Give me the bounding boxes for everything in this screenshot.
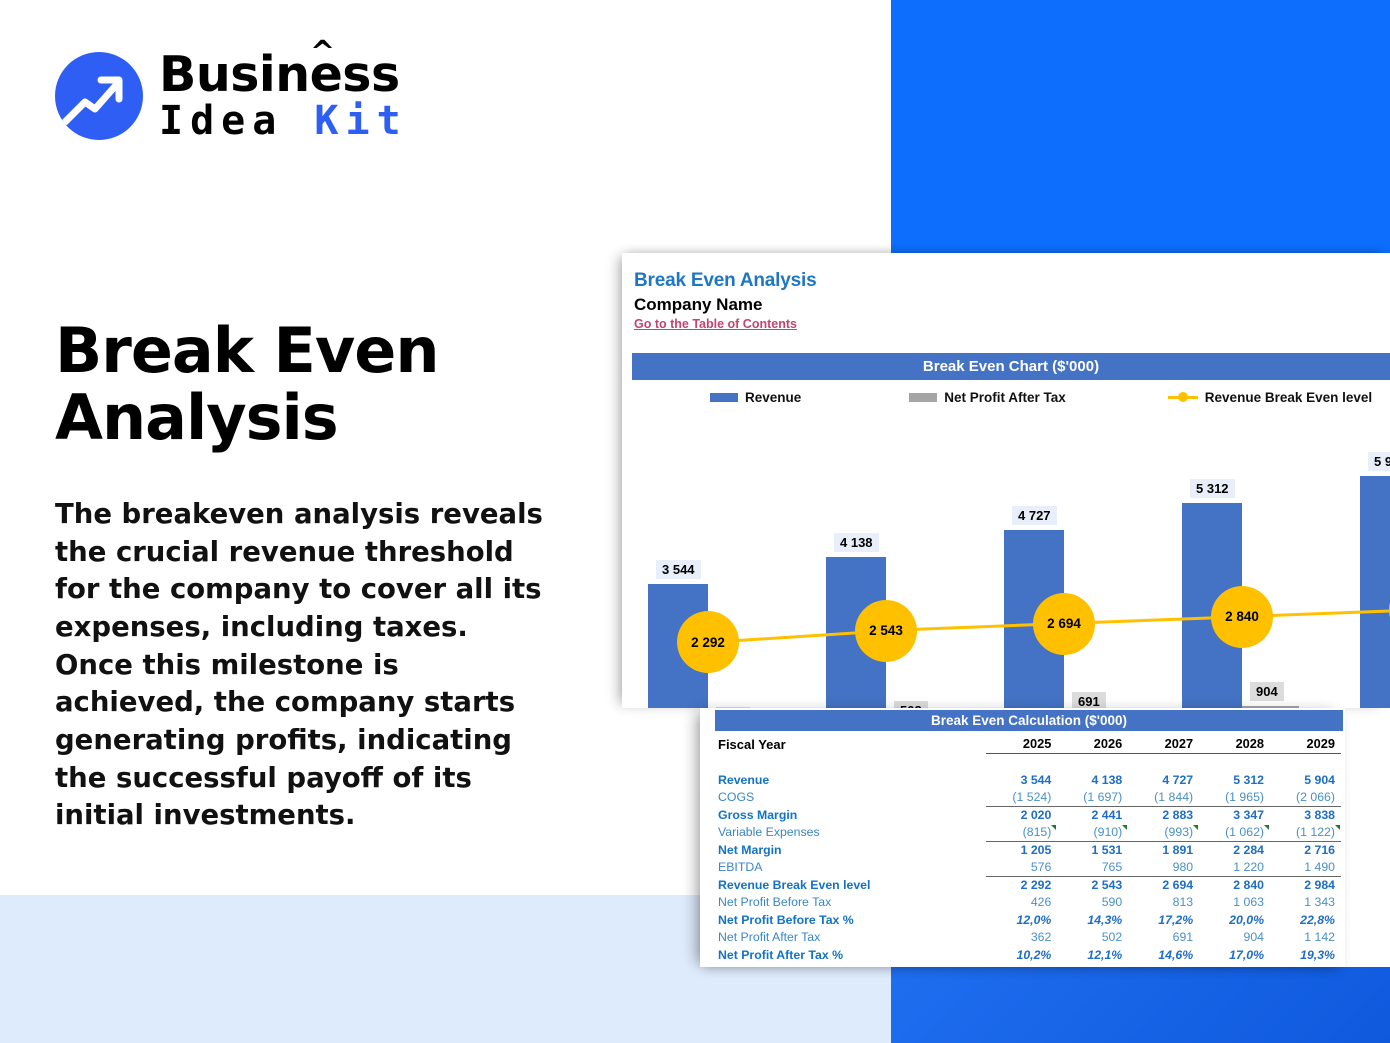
table-cell-2026: 2 543	[1057, 876, 1128, 894]
table-row: Revenue3 5444 1384 7275 3125 904	[715, 771, 1341, 789]
table-banner-title: Break Even Calculation ($'000)	[715, 710, 1343, 731]
table-cell-2025: 426	[986, 894, 1057, 912]
chart-card: Break Even Analysis Company Name Go to t…	[622, 253, 1390, 708]
table-cell-2026: (1 697)	[1057, 789, 1128, 807]
table-header-fiscal-year: Fiscal Year	[715, 736, 986, 754]
table-row: COGS(1 524)(1 697)(1 844)(1 965)(2 066)	[715, 789, 1341, 807]
chart-plot-area: 3 54436220254 13850220264 72769120275 31…	[622, 413, 1390, 708]
table-row: EBITDA5767659801 2201 490	[715, 859, 1341, 877]
data-label-revenue-2027: 4 727	[1012, 506, 1057, 525]
table-cell-2027: 14,6%	[1128, 946, 1199, 964]
table-cell-2028: 17,0%	[1199, 946, 1270, 964]
page-title: Break Even Analysis	[55, 318, 535, 452]
brand-caret-icon: ^	[310, 39, 335, 68]
break-even-marker-2028: 2 840	[1211, 586, 1273, 648]
table-cell-2027: 691	[1128, 929, 1199, 947]
table-cell-2029: 1 343	[1270, 894, 1341, 912]
table-cell-2029: (2 066)	[1270, 789, 1341, 807]
brand-name-line1: Business ^	[159, 52, 408, 99]
legend-label-break-even-level: Revenue Break Even level	[1205, 390, 1372, 405]
table-cell-2025: 12,0%	[986, 911, 1057, 929]
table-cell-label: Revenue Break Even level	[715, 876, 986, 894]
table-cell-2027: 813	[1128, 894, 1199, 912]
table-cell-2028: 1 063	[1199, 894, 1270, 912]
table-cell-2028: 20,0%	[1199, 911, 1270, 929]
break-even-marker-2026: 2 543	[855, 600, 917, 662]
table-row: Net Profit After Tax3625026919041 142	[715, 929, 1341, 947]
table-cell-2029: (1 122)	[1270, 824, 1341, 842]
table-header-2029: 2029	[1270, 736, 1341, 754]
table-cell-label: Net Profit Before Tax %	[715, 911, 986, 929]
table-cell-2029: 2 716	[1270, 841, 1341, 859]
break-even-marker-2027: 2 694	[1033, 593, 1095, 655]
break-even-marker-2025: 2 292	[677, 611, 739, 673]
table-spacer-row	[715, 754, 1341, 772]
table-row: Net Profit After Tax %10,2%12,1%14,6%17,…	[715, 946, 1341, 964]
table-cell-2029: 3 838	[1270, 806, 1341, 824]
data-label-revenue-2025: 3 544	[656, 560, 701, 579]
table-header-2025: 2025	[986, 736, 1057, 754]
table-cell-2026: (910)	[1057, 824, 1128, 842]
data-label-revenue-2029: 5 904	[1368, 452, 1390, 471]
table-cell-label: Variable Expenses	[715, 824, 986, 842]
table-row: Net Profit Before Tax %12,0%14,3%17,2%20…	[715, 911, 1341, 929]
page-description: The breakeven analysis reveals the cruci…	[55, 496, 545, 835]
brand-logo: Business ^ Idea Kit	[55, 52, 408, 140]
table-cell-2028: 2 284	[1199, 841, 1270, 859]
table-cell-2026: 14,3%	[1057, 911, 1128, 929]
table-cell-2028: 904	[1199, 929, 1270, 947]
table-cell-2029: 22,8%	[1270, 911, 1341, 929]
chart-banner-title: Break Even Chart ($'000)	[632, 353, 1390, 380]
table-cell-2025: 3 544	[986, 771, 1057, 789]
table-cell-2026: 502	[1057, 929, 1128, 947]
brand-idea-text: Idea	[159, 98, 314, 144]
data-label-net-profit-after-tax-2028: 904	[1250, 682, 1284, 701]
table-cell-2028: (1 062)	[1199, 824, 1270, 842]
table-cell-2028: 2 840	[1199, 876, 1270, 894]
break-even-calculation-table: Fiscal Year 2025 2026 2027 2028 2029 Rev…	[715, 736, 1341, 964]
legend-item-break-even-level[interactable]: Revenue Break Even level	[1168, 390, 1372, 405]
table-cell-label: Net Margin	[715, 841, 986, 859]
table-cell-2029: 19,3%	[1270, 946, 1341, 964]
table-cell-2026: 590	[1057, 894, 1128, 912]
table-header-2026: 2026	[1057, 736, 1128, 754]
table-cell-2026: 765	[1057, 859, 1128, 877]
table-cell-2029: 1 490	[1270, 859, 1341, 877]
table-cell-2026: 12,1%	[1057, 946, 1128, 964]
data-label-net-profit-after-tax-2027: 691	[1072, 692, 1106, 708]
table-header-row: Fiscal Year 2025 2026 2027 2028 2029	[715, 736, 1341, 754]
table-cell-2027: 1 891	[1128, 841, 1199, 859]
table-of-contents-link[interactable]: Go to the Table of Contents	[634, 317, 797, 331]
table-cell-2028: (1 965)	[1199, 789, 1270, 807]
table-cell-2026: 2 441	[1057, 806, 1128, 824]
table-cell-2028: 3 347	[1199, 806, 1270, 824]
table-cell-2025: 2 020	[986, 806, 1057, 824]
table-cell-2027: 2 694	[1128, 876, 1199, 894]
table-cell-2027: 4 727	[1128, 771, 1199, 789]
legend-swatch-break-even-icon	[1168, 393, 1198, 402]
table-cell-2027: (993)	[1128, 824, 1199, 842]
table-header-2028: 2028	[1199, 736, 1270, 754]
table-cell-label: Gross Margin	[715, 806, 986, 824]
table-row: Revenue Break Even level2 2922 5432 6942…	[715, 876, 1341, 894]
legend-label-net-profit-after-tax: Net Profit After Tax	[944, 390, 1066, 405]
table-cell-label: Revenue	[715, 771, 986, 789]
table-cell-2025: (815)	[986, 824, 1057, 842]
table-cell-2028: 1 220	[1199, 859, 1270, 877]
data-label-revenue-2028: 5 312	[1190, 479, 1235, 498]
table-cell-2029: 5 904	[1270, 771, 1341, 789]
brand-name-line1-text: Business	[159, 46, 400, 103]
table-row: Gross Margin2 0202 4412 8833 3473 838	[715, 806, 1341, 824]
brand-name-line2: Idea Kit	[159, 102, 408, 140]
table-cell-label: COGS	[715, 789, 986, 807]
table-cell-2027: 17,2%	[1128, 911, 1199, 929]
legend-swatch-revenue-icon	[710, 393, 738, 402]
table-cell-label: EBITDA	[715, 859, 986, 877]
table-cell-2025: 576	[986, 859, 1057, 877]
table-cell-2027: (1 844)	[1128, 789, 1199, 807]
legend-item-revenue[interactable]: Revenue	[710, 390, 801, 405]
table-row: Variable Expenses(815)(910)(993)(1 062)(…	[715, 824, 1341, 842]
table-header-2027: 2027	[1128, 736, 1199, 754]
table-cell-2026: 1 531	[1057, 841, 1128, 859]
table-cell-2028: 5 312	[1199, 771, 1270, 789]
table-cell-2029: 1 142	[1270, 929, 1341, 947]
table-row: Net Margin1 2051 5311 8912 2842 716	[715, 841, 1341, 859]
bar-revenue-2029	[1360, 476, 1390, 709]
sheet-title: Break Even Analysis	[634, 270, 816, 292]
calculation-table-card: Break Even Calculation ($'000) Fiscal Ye…	[700, 708, 1345, 967]
background-block-top-right	[891, 0, 1390, 261]
background-block-bottom-right	[891, 967, 1390, 1043]
growth-arrow-icon	[55, 52, 143, 140]
table-row: Net Profit Before Tax4265908131 0631 343	[715, 894, 1341, 912]
table-cell-2027: 980	[1128, 859, 1199, 877]
table-cell-label: Net Profit After Tax %	[715, 946, 986, 964]
table-cell-2025: 10,2%	[986, 946, 1057, 964]
table-cell-2027: 2 883	[1128, 806, 1199, 824]
legend-swatch-net-profit-icon	[909, 393, 937, 402]
table-cell-label: Net Profit After Tax	[715, 929, 986, 947]
data-label-revenue-2026: 4 138	[834, 533, 879, 552]
table-cell-2025: 362	[986, 929, 1057, 947]
company-name: Company Name	[634, 295, 762, 315]
table-cell-2029: 2 984	[1270, 876, 1341, 894]
table-cell-2025: (1 524)	[986, 789, 1057, 807]
table-cell-2026: 4 138	[1057, 771, 1128, 789]
chart-legend: Revenue Net Profit After Tax Revenue Bre…	[632, 385, 1390, 409]
legend-item-net-profit-after-tax[interactable]: Net Profit After Tax	[909, 390, 1066, 405]
table-body: Revenue3 5444 1384 7275 3125 904COGS(1 5…	[715, 771, 1341, 964]
table-cell-2025: 1 205	[986, 841, 1057, 859]
table-cell-label: Net Profit Before Tax	[715, 894, 986, 912]
table-cell-2025: 2 292	[986, 876, 1057, 894]
brand-kit-text: Kit	[314, 98, 407, 144]
data-label-net-profit-after-tax-2026: 502	[894, 701, 928, 708]
legend-label-revenue: Revenue	[745, 390, 801, 405]
